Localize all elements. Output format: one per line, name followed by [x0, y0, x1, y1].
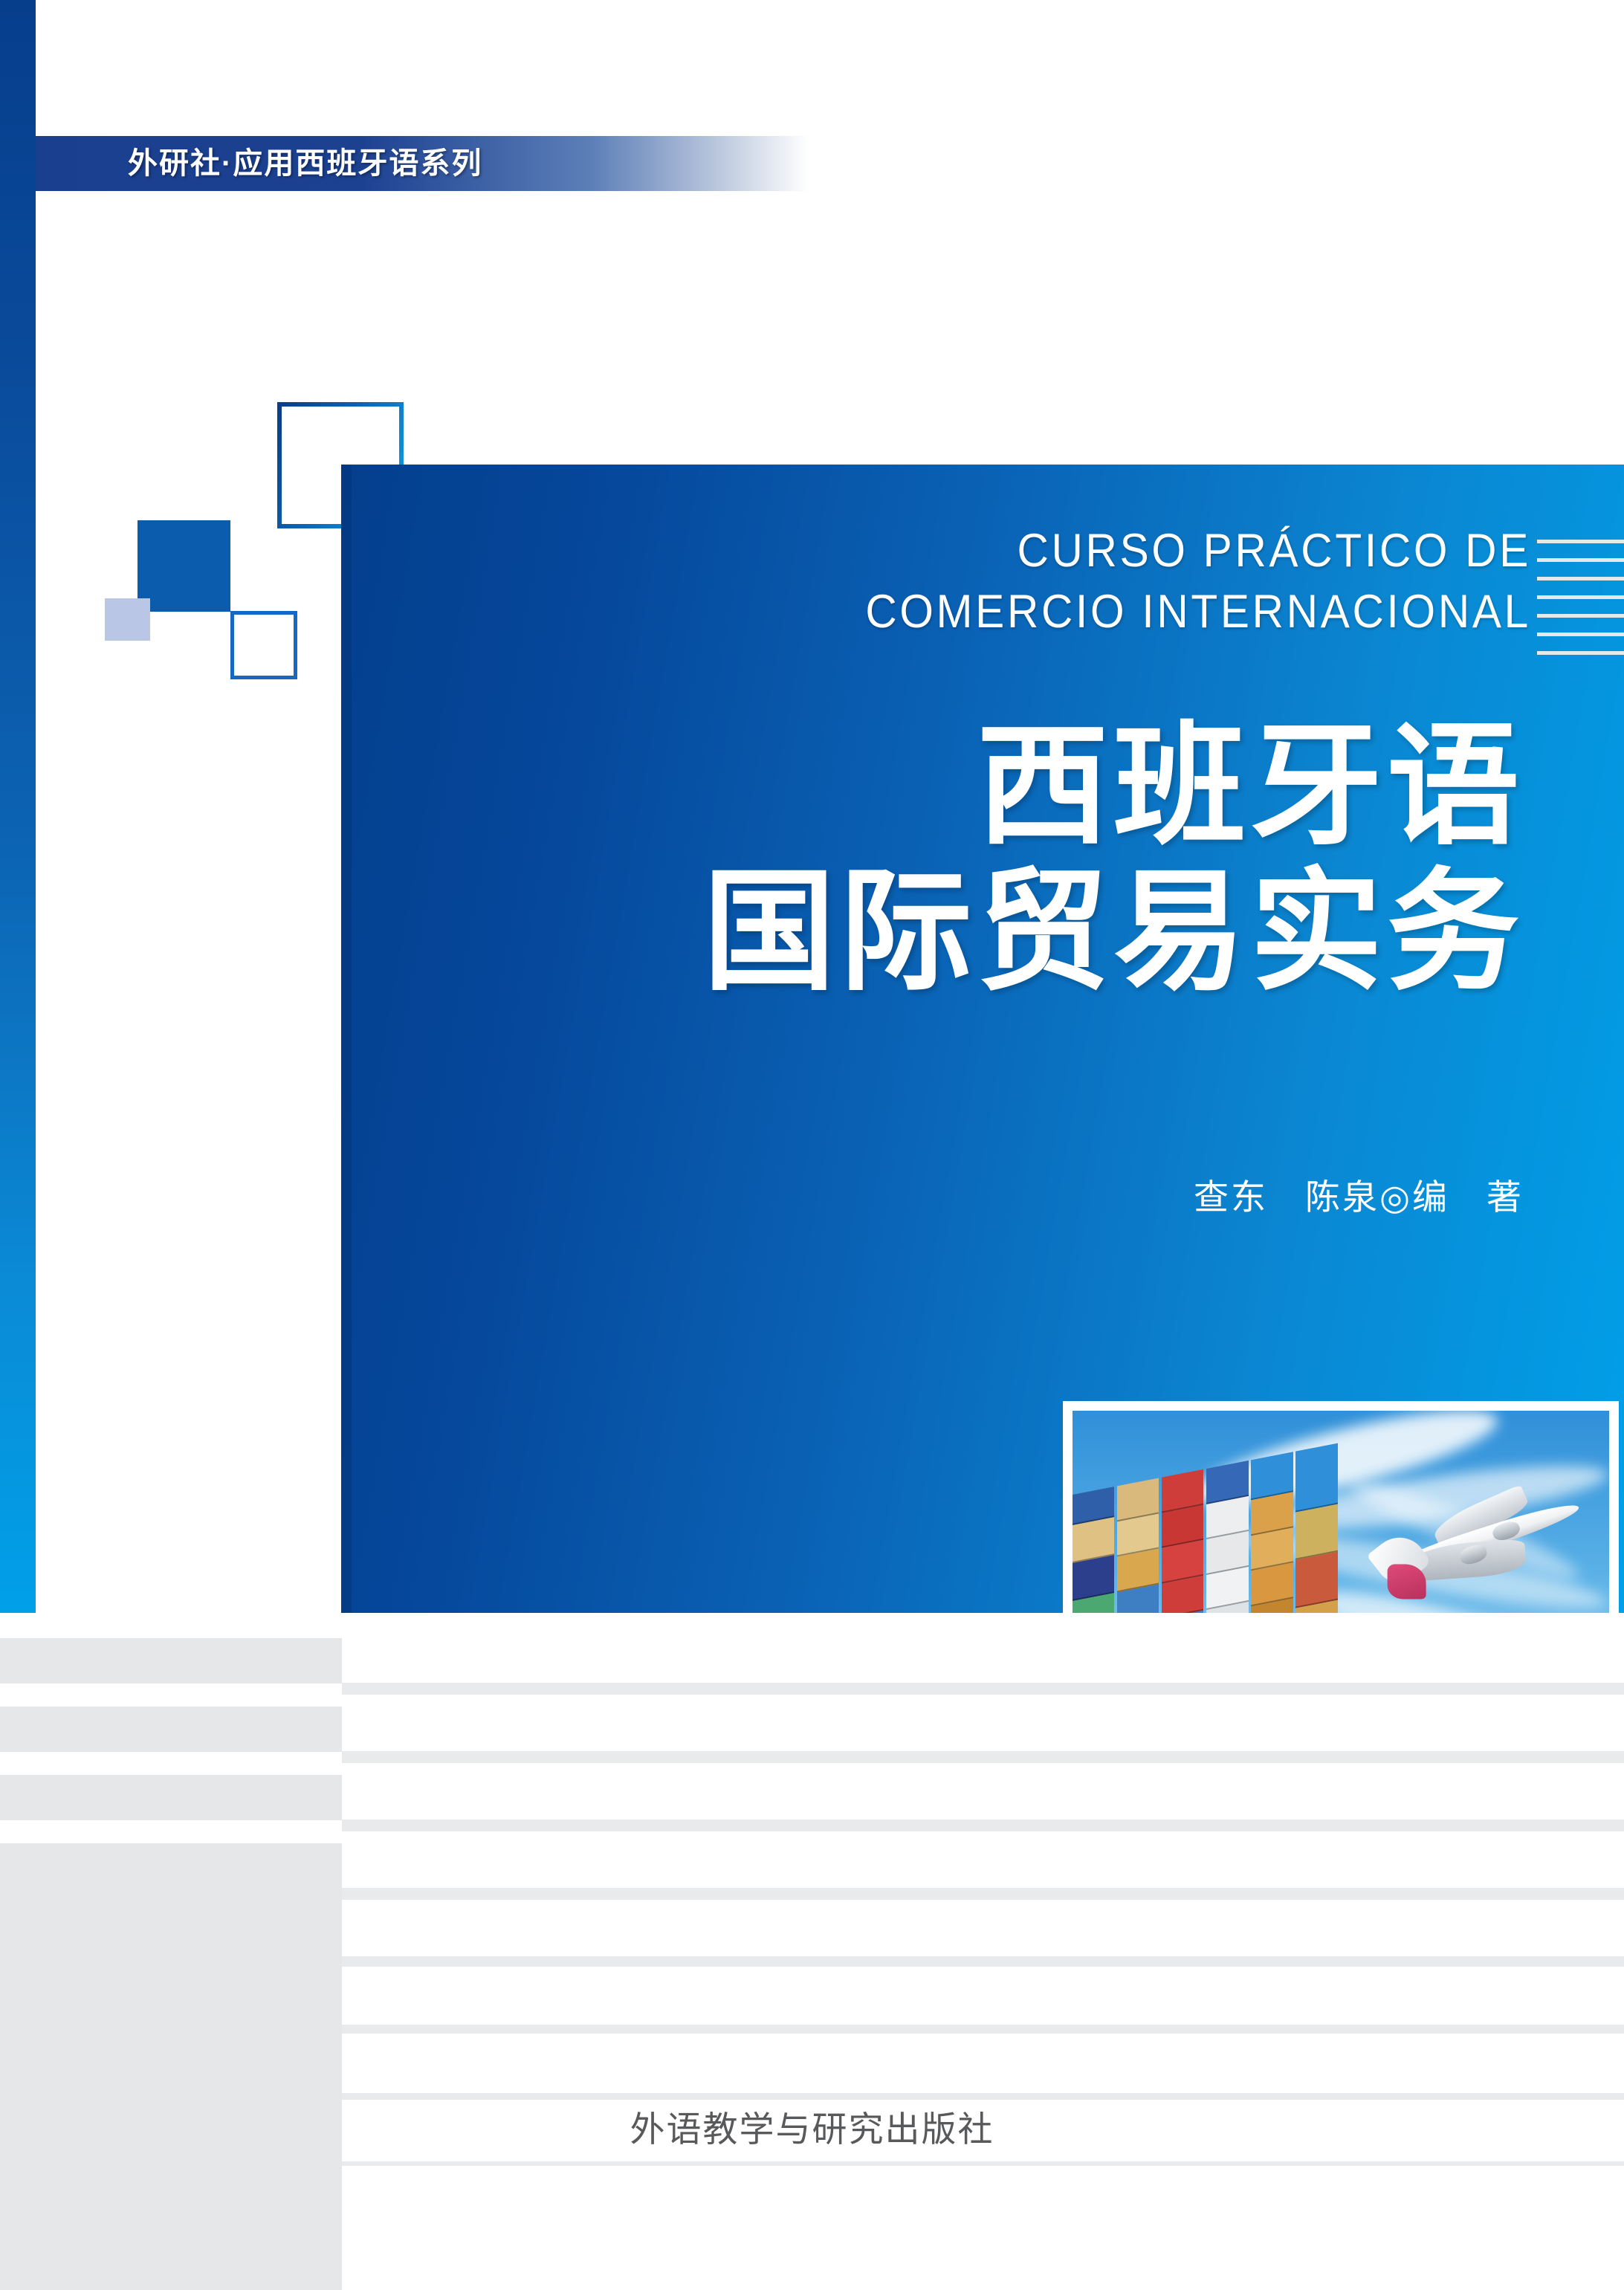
book-cover: 外研社·应用西班牙语系列 CURSO PRÁCTICO DE COMERCIO … [0, 0, 1624, 2290]
chinese-title-line1: 西班牙语 [416, 714, 1524, 859]
spanish-title-line2: COMERCIO INTERNACIONAL [494, 581, 1531, 642]
publisher-name: 外语教学与研究出版社 [0, 2100, 1624, 2152]
decor-filled-mid-square [138, 520, 230, 612]
decor-outline-small-square [230, 611, 297, 679]
spanish-title: CURSO PRÁCTICO DE COMERCIO INTERNACIONAL [494, 520, 1531, 642]
title-panel-left-edge [341, 465, 352, 1613]
chinese-title: 西班牙语 国际贸易实务 [416, 714, 1524, 1005]
chinese-title-line2: 国际贸易实务 [416, 859, 1524, 1005]
decor-lavender-square [105, 598, 150, 641]
decor-horizontal-lines [1537, 540, 1624, 660]
series-banner-label: 外研社·应用西班牙语系列 [128, 141, 482, 186]
bottom-gray-block [0, 1864, 342, 2290]
author-line: 查东 陈泉◎编 著 [669, 1168, 1524, 1220]
spanish-title-line1: CURSO PRÁCTICO DE [494, 520, 1531, 581]
left-spine-gradient-bar [0, 0, 36, 1613]
